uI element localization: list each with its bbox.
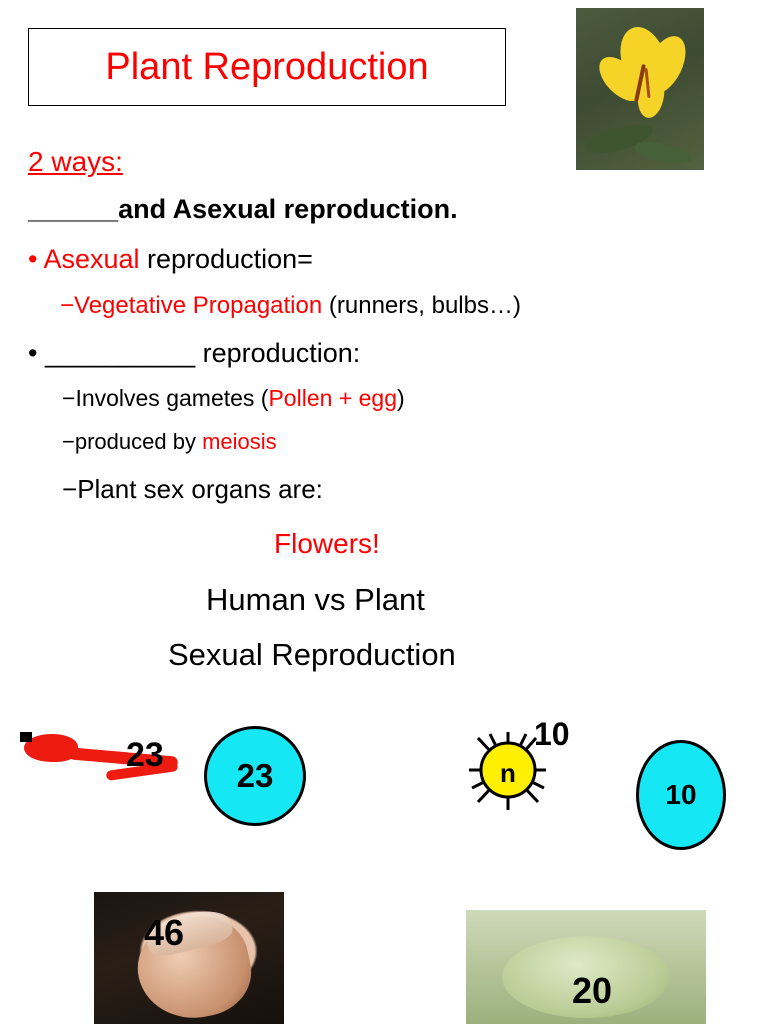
pollen-chromosome-count: 10 (534, 716, 570, 753)
dash-icon: − (62, 429, 75, 454)
bullet-dot-icon: • (28, 244, 37, 274)
sexual-blank-underscore: __________ (45, 338, 195, 368)
heading-sexual-reproduction: Sexual Reproduction (168, 637, 456, 673)
gametes-pre: Involves gametes ( (75, 385, 268, 411)
sexual-rest: reproduction: (195, 338, 360, 368)
embryo-chromosome-count: 46 (144, 912, 184, 954)
line-plant-sex-organs: −Plant sex organs are: (62, 474, 323, 505)
dash-icon: − (60, 292, 74, 319)
flowers-text: Flowers! (274, 528, 380, 559)
seed-chromosome-count: 20 (572, 970, 612, 1012)
flower-leaf-icon (633, 138, 693, 168)
meiosis-pre: produced by (75, 429, 202, 454)
page-title: Plant Reproduction (105, 48, 428, 86)
line-sexual-blank: • __________ reproduction: (28, 338, 360, 369)
blank-underscore: ______ (28, 194, 118, 224)
human-egg-chromosome-count: 23 (237, 757, 274, 795)
line-asexual-definition: • Asexual reproduction= (28, 244, 313, 275)
svg-text:n: n (500, 758, 516, 788)
line-blank-and-asexual: ______and Asexual reproduction. (28, 194, 458, 225)
sperm-chromosome-count: 23 (126, 736, 164, 775)
dash-icon: − (62, 385, 75, 411)
two-ways-text: 2 ways: (28, 146, 123, 177)
dash-icon: − (62, 474, 77, 504)
title-box: Plant Reproduction (28, 28, 506, 106)
vegetative-text: Vegetative Propagation (74, 292, 322, 319)
vegetative-examples: (runners, bulbs…) (322, 292, 521, 319)
organs-text: Plant sex organs are: (77, 474, 323, 504)
line-flowers: Flowers! (274, 528, 380, 560)
gametes-post: ) (397, 385, 405, 411)
slide: Plant Reproduction 2 ways: ______and Ase… (0, 0, 768, 1024)
line-meiosis: −produced by meiosis (62, 429, 277, 455)
human-embryo-photo (94, 892, 284, 1024)
line-gametes: −Involves gametes (Pollen + egg) (62, 385, 405, 412)
sperm-tip-icon (20, 732, 32, 742)
gametes-highlight: Pollen + egg (268, 385, 397, 411)
line-vegetative-propagation: −Vegetative Propagation (runners, bulbs…… (60, 292, 521, 320)
human-vs-plant-line1: Human vs Plant (206, 582, 425, 617)
human-egg-icon: 23 (204, 726, 306, 826)
meiosis-highlight: meiosis (202, 429, 277, 454)
asexual-rest: reproduction= (140, 244, 313, 274)
plant-egg-chromosome-count: 10 (665, 779, 696, 811)
flower-photo (576, 8, 704, 170)
asexual-word: Asexual (43, 244, 139, 274)
plant-egg-icon: 10 (636, 740, 726, 850)
and-word: and Asexual reproduction. (118, 194, 458, 224)
heading-human-vs-plant: Human vs Plant (206, 582, 425, 618)
line-two-ways: 2 ways: (28, 146, 123, 178)
human-vs-plant-line2: Sexual Reproduction (168, 637, 456, 672)
bullet-dot-icon: • (28, 338, 37, 368)
